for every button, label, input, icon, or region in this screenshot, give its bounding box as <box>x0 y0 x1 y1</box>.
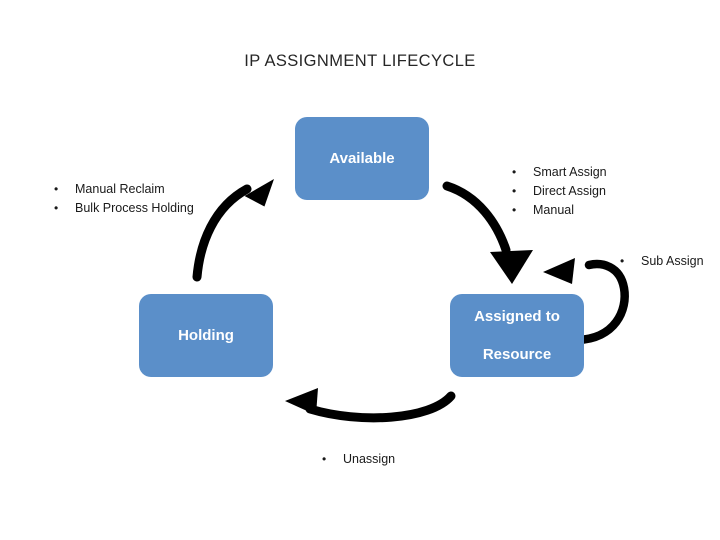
node-available[interactable]: Available <box>295 117 429 200</box>
list-item: Sub Assign <box>616 252 704 271</box>
list-item: Manual <box>508 201 607 220</box>
node-available-label: Available <box>329 149 394 168</box>
annotation-list-assign: Smart Assign Direct Assign Manual <box>508 163 607 220</box>
list-item: Direct Assign <box>508 182 607 201</box>
list-item: Manual Reclaim <box>50 180 194 199</box>
arrow-assigned-to-holding <box>285 388 451 418</box>
list-item: Smart Assign <box>508 163 607 182</box>
annotation-list-reclaim: Manual Reclaim Bulk Process Holding <box>50 180 194 218</box>
list-item: Bulk Process Holding <box>50 199 194 218</box>
page-title: IP ASSIGNMENT LIFECYCLE <box>0 52 720 71</box>
node-assigned-label-line1: Assigned to <box>474 307 560 326</box>
node-holding[interactable]: Holding <box>139 294 273 377</box>
node-assigned-label: Assigned to Resource <box>474 307 560 364</box>
node-holding-label: Holding <box>178 326 234 345</box>
list-item: Unassign <box>318 450 395 469</box>
annotation-list-sub-assign: Sub Assign <box>616 252 704 271</box>
node-assigned[interactable]: Assigned to Resource <box>450 294 584 377</box>
node-assigned-label-line2: Resource <box>474 345 560 364</box>
slide-canvas: IP ASSIGNMENT LIFECYCLE Available Holdin… <box>0 0 720 540</box>
annotation-list-unassign: Unassign <box>318 450 395 469</box>
arrow-holding-to-available <box>197 179 284 277</box>
